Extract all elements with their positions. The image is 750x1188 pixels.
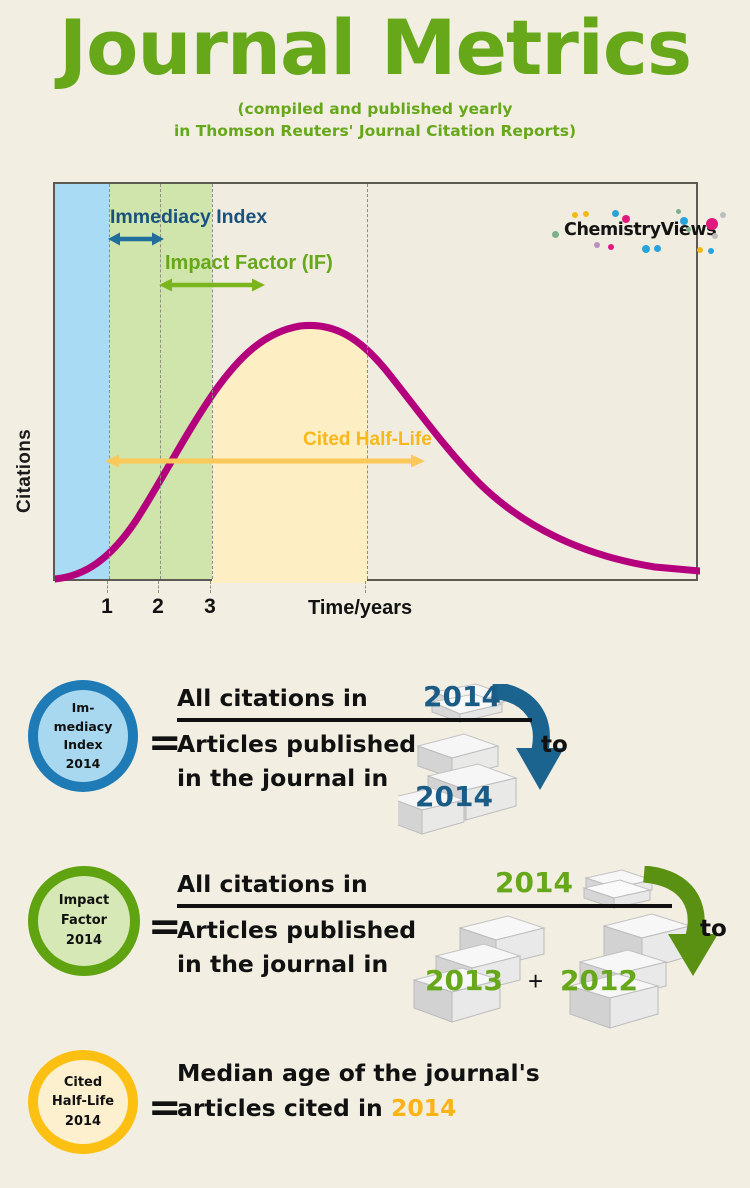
logo-dot: [642, 245, 650, 253]
logo-dot: [676, 209, 681, 214]
annotation-arrow-impact-factor: [159, 276, 265, 294]
tick-mark-half-life: [365, 581, 366, 593]
logo-dot: [583, 211, 589, 217]
chart-plot-area: Immediacy Index Impact Factor (IF) Cited…: [53, 182, 698, 581]
formula-cited-half-life: Cited Half-Life 2014 = Median age of the…: [0, 1038, 750, 1163]
definition-year: 2014: [391, 1094, 456, 1122]
badge-line: 2014: [66, 931, 102, 951]
badge-immediacy-index: Im- mediacy Index 2014: [28, 680, 138, 792]
subtitle-line-1: (compiled and published yearly: [0, 98, 750, 120]
tick-mark-3: [210, 581, 211, 593]
logo-dot: [552, 231, 559, 238]
denominator-plus-sign: +: [528, 966, 543, 997]
logo-dot: [706, 218, 718, 230]
logo-dot: [680, 217, 688, 225]
citation-chart: Citations Immediacy Index Impact Factor …: [0, 176, 750, 646]
logo-dot: [612, 210, 619, 217]
connector-to: to: [700, 916, 727, 942]
chemistryviews-logo: ChemistryViews: [550, 209, 740, 254]
x-axis-label: Time/years: [308, 597, 412, 620]
logo-dot: [712, 233, 718, 239]
annotation-label-cited-half-life: Cited Half-Life: [303, 429, 432, 451]
gridline-half-life-end: [367, 184, 368, 579]
numerator-year: 2014: [423, 680, 501, 713]
numerator-text: All citations in: [177, 868, 677, 901]
logo-text: ChemistryViews: [564, 220, 716, 240]
logo-dot: [654, 245, 661, 252]
badge-line: 2014: [65, 1112, 101, 1132]
logo-dot: [708, 248, 714, 254]
tick-label-1: 1: [101, 595, 113, 619]
badge-line: mediacy: [54, 718, 113, 737]
tick-mark-2: [158, 581, 159, 593]
denominator-year: 2014: [415, 780, 493, 813]
formula-immediacy-index: Im- mediacy Index 2014 =: [0, 668, 750, 843]
badge-line: Factor: [61, 911, 107, 931]
logo-dot: [622, 215, 630, 223]
denominator-line-1: Articles published: [177, 728, 532, 761]
fraction-bar: [177, 904, 672, 908]
numerator-year: 2014: [495, 866, 573, 899]
badge-line: Im-: [72, 699, 95, 718]
badge-line: Index: [63, 736, 102, 755]
header: Journal Metrics (compiled and published …: [0, 0, 750, 143]
definition-line-1: Median age of the journal's: [177, 1056, 540, 1091]
page-title: Journal Metrics: [0, 8, 750, 88]
denominator-line-1: Articles published: [177, 914, 677, 947]
badge-line: Impact: [59, 891, 109, 911]
logo-dot: [572, 212, 578, 218]
badge-line: 2014: [66, 755, 101, 774]
tick-label-3: 3: [204, 595, 216, 619]
gridline-year-3: [212, 184, 213, 579]
definition-line-2: articles cited in 2014: [177, 1091, 540, 1126]
y-axis-label: Citations: [14, 406, 36, 536]
formula-impact-factor: Impact Factor 2014 =: [0, 858, 750, 1028]
logo-dot: [697, 247, 703, 253]
logo-dot: [594, 242, 600, 248]
half-life-definition: Median age of the journal's articles cit…: [177, 1056, 540, 1126]
annotation-label-impact-factor: Impact Factor (IF): [165, 252, 333, 275]
annotation-label-immediacy-index: Immediacy Index: [110, 206, 267, 229]
tick-mark-1: [107, 581, 108, 593]
annotation-arrow-immediacy-index: [108, 230, 164, 248]
region-cited-half-life: [212, 184, 367, 583]
page-subtitle: (compiled and published yearly in Thomso…: [0, 98, 750, 143]
denominator-year-a: 2013: [425, 964, 503, 997]
tick-label-2: 2: [152, 595, 164, 619]
denominator-year-b: 2012: [560, 964, 638, 997]
subtitle-line-2: in Thomson Reuters' Journal Citation Rep…: [0, 120, 750, 142]
badge-cited-half-life: Cited Half-Life 2014: [28, 1050, 138, 1154]
connector-to: to: [541, 732, 568, 758]
logo-dot: [720, 212, 726, 218]
fraction-bar: [177, 718, 532, 722]
badge-impact-factor: Impact Factor 2014: [28, 866, 140, 976]
badge-line: Half-Life: [52, 1092, 114, 1112]
logo-dot: [608, 244, 614, 250]
definition-line-2-prefix: articles cited in: [177, 1094, 391, 1122]
annotation-arrow-cited-half-life: [105, 452, 425, 470]
badge-line: Cited: [64, 1073, 102, 1093]
logo-dot: [686, 227, 691, 232]
